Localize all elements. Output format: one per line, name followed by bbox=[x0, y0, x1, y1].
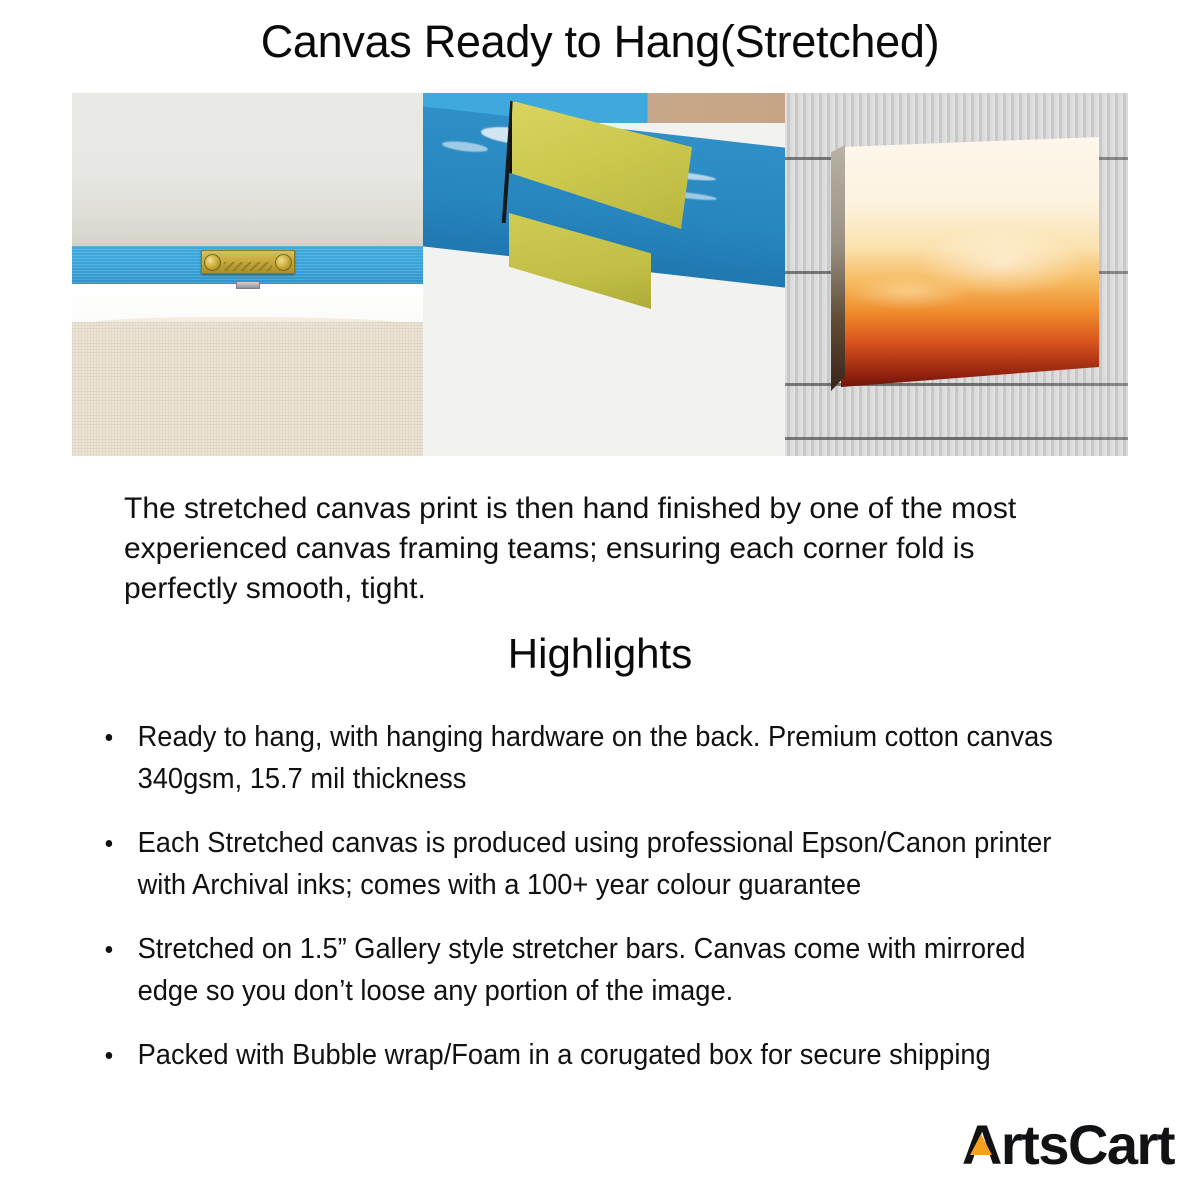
list-item: Ready to hang, with hanging hardware on … bbox=[100, 716, 1059, 800]
hanging-canvas bbox=[831, 137, 1099, 387]
list-item-text: Ready to hang, with hanging hardware on … bbox=[138, 721, 1053, 795]
list-item: Each Stretched canvas is produced using … bbox=[100, 822, 1059, 906]
hanging-hardware-photo bbox=[72, 93, 423, 456]
list-item-text: Stretched on 1.5” Gallery style stretche… bbox=[138, 933, 1026, 1007]
sunset-haze-overlay bbox=[841, 137, 1099, 387]
page-title: Canvas Ready to Hang(Stretched) bbox=[0, 14, 1200, 70]
bullet-dot-icon bbox=[106, 1052, 113, 1059]
raw-canvas-surface bbox=[72, 322, 423, 456]
bullet-dot-icon bbox=[106, 734, 113, 741]
highlights-list: Ready to hang, with hanging hardware on … bbox=[100, 716, 1120, 1098]
corner-fold-photo bbox=[423, 93, 785, 456]
artscart-logo: A rtsCart bbox=[962, 1114, 1174, 1176]
list-item-text: Each Stretched canvas is produced using … bbox=[138, 827, 1052, 901]
canvas-depth-side bbox=[831, 145, 845, 391]
sawtooth-teeth bbox=[224, 262, 272, 271]
logo-rest-text: rtsCart bbox=[1001, 1114, 1174, 1176]
hanger-nub bbox=[236, 281, 260, 289]
screw-left-icon bbox=[204, 254, 221, 271]
plank-seam bbox=[785, 437, 1128, 440]
sawtooth-hanger-icon bbox=[201, 250, 295, 274]
bullet-dot-icon bbox=[106, 946, 113, 953]
list-item-text: Packed with Bubble wrap/Foam in a coruga… bbox=[138, 1039, 991, 1071]
bullet-dot-icon bbox=[106, 840, 113, 847]
orange-triangle-icon bbox=[970, 1134, 992, 1155]
list-item: Stretched on 1.5” Gallery style stretche… bbox=[100, 928, 1059, 1012]
screw-right-icon bbox=[275, 254, 292, 271]
product-photo-strip bbox=[72, 93, 1128, 456]
canvas-on-wall-photo bbox=[785, 93, 1128, 456]
intro-paragraph: The stretched canvas print is then hand … bbox=[124, 489, 1084, 609]
highlights-heading: Highlights bbox=[0, 628, 1200, 680]
logo-letter-a: A bbox=[962, 1114, 1001, 1176]
list-item: Packed with Bubble wrap/Foam in a coruga… bbox=[100, 1034, 1059, 1076]
